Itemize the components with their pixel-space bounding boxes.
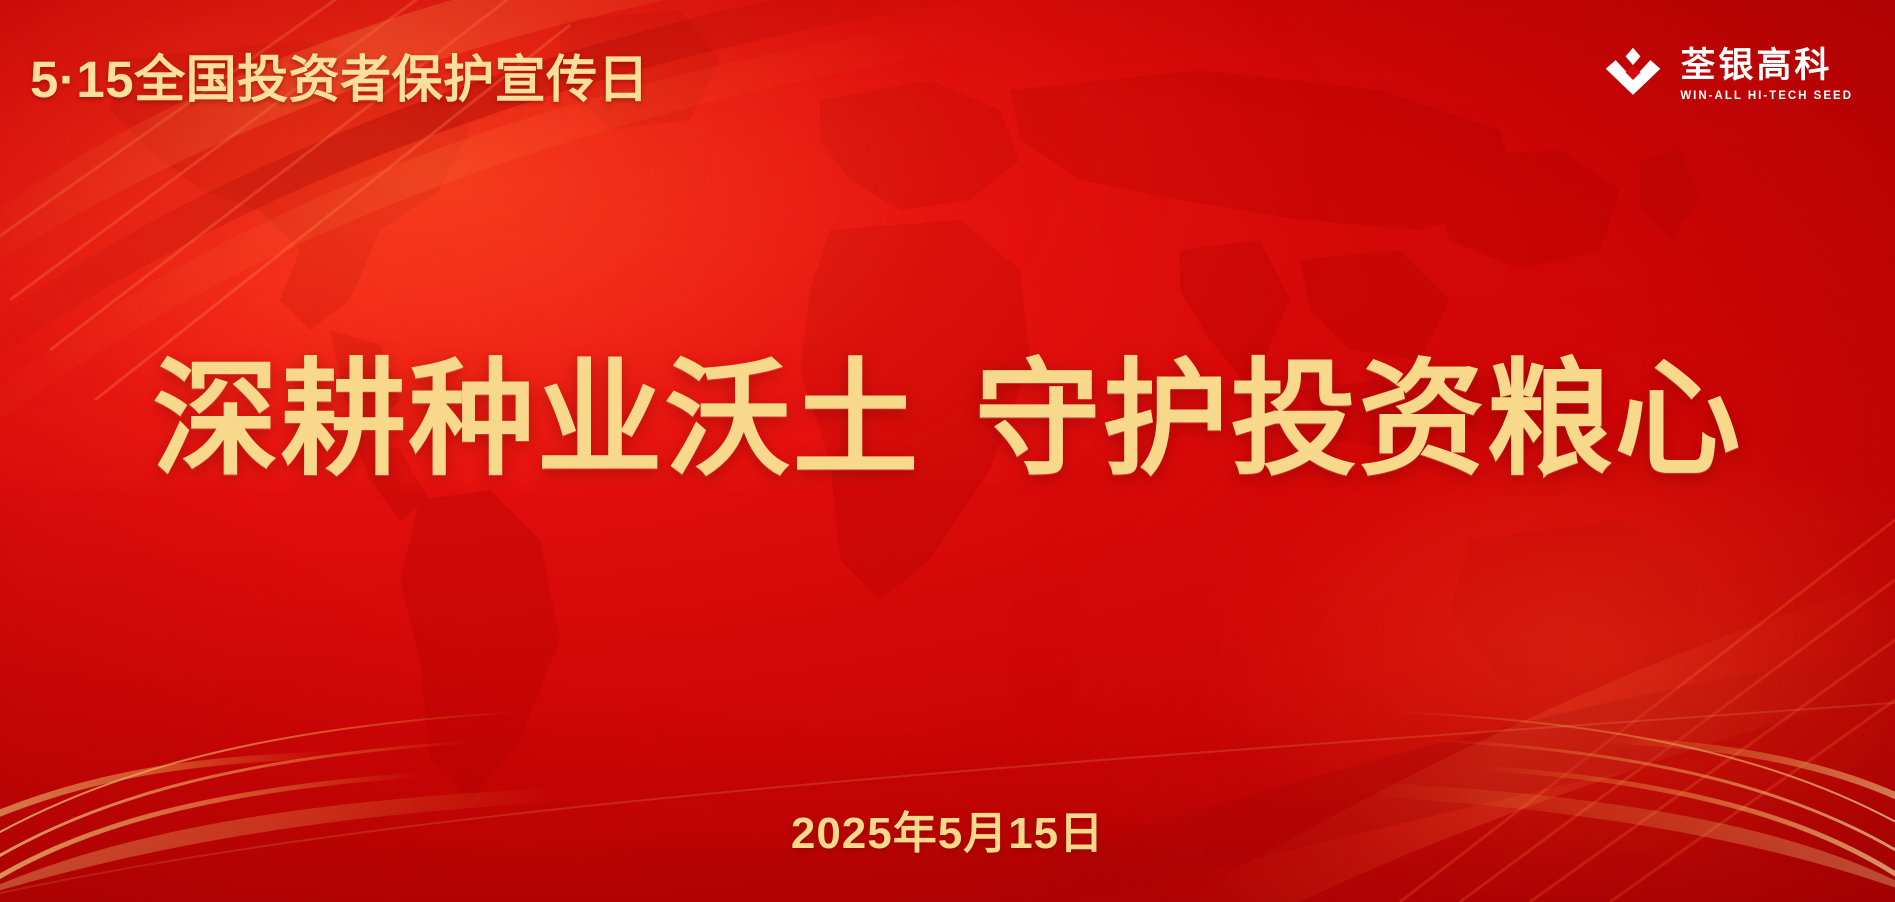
brand-text-block: 荃银高科 WIN-ALL HI-TECH SEED xyxy=(1680,48,1853,102)
campaign-slogan: 5·15全国投资者保护宣传日 xyxy=(30,54,649,105)
brand-logo: 荃银高科 WIN-ALL HI-TECH SEED xyxy=(1602,44,1853,106)
page-title: 深耕种业沃土守护投资粮心 xyxy=(0,352,1895,488)
brand-name-cn: 荃银高科 xyxy=(1680,48,1853,85)
headline-part-1: 深耕种业沃土 xyxy=(153,349,921,490)
event-date: 2025年5月15日 xyxy=(0,797,1895,861)
winall-chevron-logo-icon xyxy=(1602,44,1664,106)
brand-name-en: WIN-ALL HI-TECH SEED xyxy=(1680,90,1853,102)
banner-poster: 5·15全国投资者保护宣传日 荃银高科 WIN- xyxy=(0,0,1895,902)
headline-part-2: 守护投资粮心 xyxy=(975,349,1743,490)
